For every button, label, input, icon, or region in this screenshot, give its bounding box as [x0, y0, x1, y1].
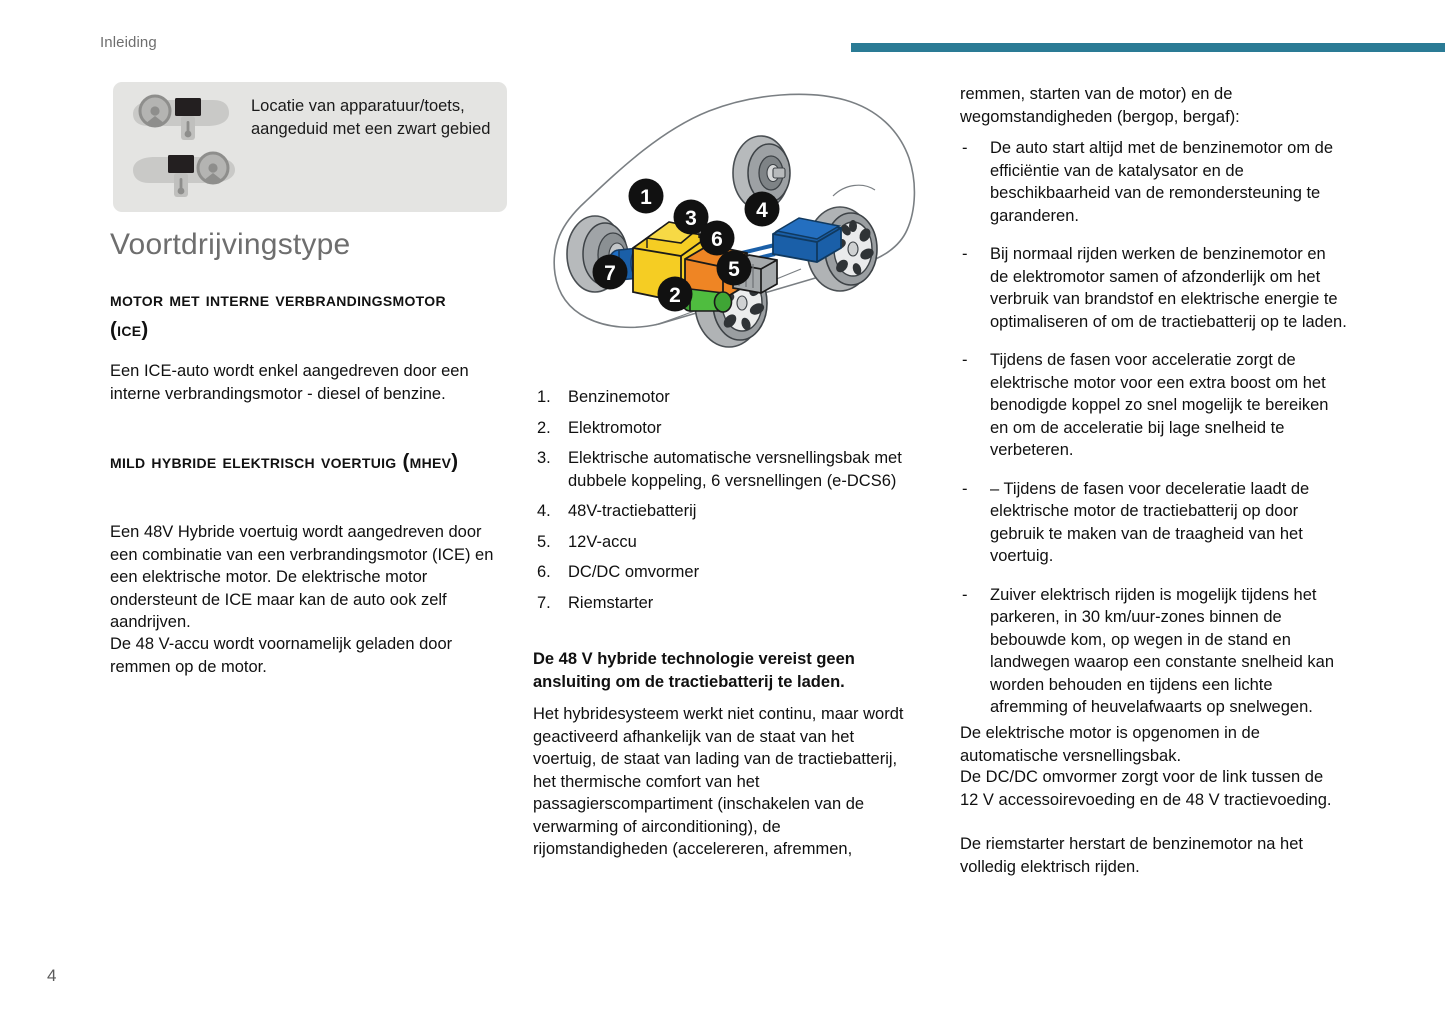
list-item-number: 2.	[537, 417, 568, 440]
note-box: Locatie van apparatuur/toets, aangeduid …	[113, 82, 507, 212]
svg-text:7: 7	[604, 262, 616, 285]
callout-5: 5	[717, 251, 752, 286]
list-item: 6. DC/DC omvormer	[537, 561, 917, 584]
list-item: - Bij normaal rijden werken de benzinemo…	[962, 243, 1348, 333]
bold-note-48v: De 48 V hybride technologie vereist geen…	[533, 648, 905, 693]
svg-text:2: 2	[669, 284, 681, 307]
bullet-dash: -	[962, 137, 990, 227]
bullet-dash: -	[962, 243, 990, 333]
bullet-text: De auto start altijd met de benzinemotor…	[990, 137, 1348, 227]
diagram-legend-list: 1. Benzinemotor 2. Elektromotor 3. Elekt…	[537, 386, 917, 622]
closing-paragraph-2: De DC/DC omvormer zorgt voor de link tus…	[960, 766, 1344, 811]
list-item: 1. Benzinemotor	[537, 386, 917, 409]
list-item: - De auto start altijd met de benzinemot…	[962, 137, 1348, 227]
page-title: Voortdrijvingstype	[110, 228, 350, 262]
callout-6: 6	[700, 221, 735, 256]
list-item-number: 7.	[537, 592, 568, 615]
note-box-text: Locatie van apparatuur/toets, aangeduid …	[251, 95, 496, 141]
svg-text:5: 5	[728, 258, 740, 281]
bullet-text: Zuiver elektrisch rijden is mogelijk tij…	[990, 584, 1348, 719]
list-item-number: 4.	[537, 500, 568, 523]
callout-7: 7	[593, 255, 628, 290]
paragraph-hybridesysteem: Het hybridesysteem werkt niet continu, m…	[533, 703, 915, 861]
list-item-label: Elektromotor	[568, 417, 917, 440]
bullet-text: Tijdens de fasen voor acceleratie zorgt …	[990, 349, 1348, 462]
list-item: 2. Elektromotor	[537, 417, 917, 440]
list-item-label: DC/DC omvormer	[568, 561, 917, 584]
closing-paragraph-1: De elektrische motor is opgenomen in de …	[960, 722, 1344, 767]
running-head: Inleiding	[100, 34, 157, 51]
list-item: 5. 12V-accu	[537, 531, 917, 554]
paragraph-ice: Een ICE-auto wordt enkel aangedreven doo…	[110, 360, 488, 405]
mhev-powertrain-cutaway-diagram: 1 3 6 4 5 7 2	[533, 78, 933, 363]
list-item-number: 6.	[537, 561, 568, 584]
list-item-label: 12V-accu	[568, 531, 917, 554]
paragraph-lead: remmen, starten van de motor) en de wego…	[960, 83, 1344, 128]
list-item-number: 3.	[537, 447, 568, 492]
list-item-number: 5.	[537, 531, 568, 554]
list-item-label: Elektrische automatische versnellingsbak…	[568, 447, 917, 492]
list-item-label: 48V-tractiebatterij	[568, 500, 917, 523]
header-rule	[851, 43, 1445, 52]
bullet-text: Bij normaal rijden werken de benzinemoto…	[990, 243, 1348, 333]
paragraph-mhev-2: De 48 V-accu wordt voornamelijk geladen …	[110, 633, 496, 678]
svg-text:1: 1	[640, 186, 652, 209]
callout-1: 1	[629, 179, 664, 214]
page-number: 4	[47, 966, 56, 986]
bullet-dash: -	[962, 584, 990, 719]
list-item-label: Benzinemotor	[568, 386, 917, 409]
heading-mhev: Mild hybride elektrisch voertuig (MHEV)	[110, 447, 488, 477]
svg-text:4: 4	[756, 199, 768, 222]
list-item: 7. Riemstarter	[537, 592, 917, 615]
closing-paragraph-3: De riemstarter herstart de benzinemotor …	[960, 833, 1344, 878]
list-item: 4. 48V-tractiebatterij	[537, 500, 917, 523]
list-item: - Tijdens de fasen voor acceleratie zorg…	[962, 349, 1348, 462]
list-item-label: Riemstarter	[568, 592, 917, 615]
callout-2: 2	[658, 277, 693, 312]
list-item-number: 1.	[537, 386, 568, 409]
list-item: - – Tijdens de fasen voor deceleratie la…	[962, 478, 1348, 568]
driving-modes-bullet-list: - De auto start altijd met de benzinemot…	[962, 137, 1348, 735]
svg-text:6: 6	[711, 228, 723, 251]
bullet-text: – Tijdens de fasen voor deceleratie laad…	[990, 478, 1348, 568]
list-item: 3. Elektrische automatische versnellings…	[537, 447, 917, 492]
bullet-dash: -	[962, 349, 990, 462]
svg-text:3: 3	[685, 207, 697, 230]
paragraph-mhev-1: Een 48V Hybride voertuig wordt aangedrev…	[110, 521, 496, 634]
list-item: - Zuiver elektrisch rijden is mogelijk t…	[962, 584, 1348, 719]
dashboard-location-icon	[125, 90, 245, 204]
heading-ice: Motor met interne verbrandingsmotor (ICE…	[110, 285, 488, 345]
callout-4: 4	[745, 192, 780, 227]
bullet-dash: -	[962, 478, 990, 568]
